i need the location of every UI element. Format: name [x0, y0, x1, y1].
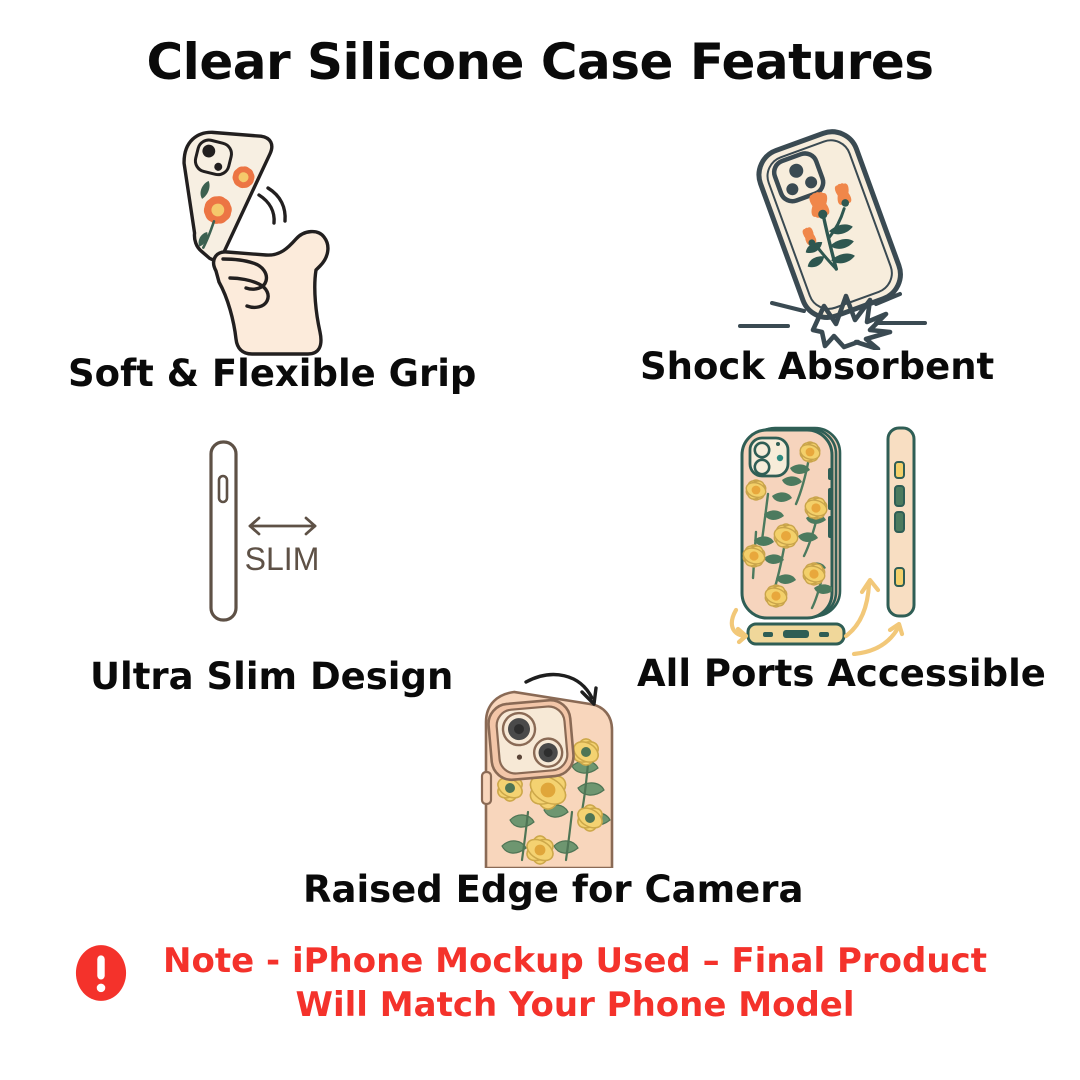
phone-case-body — [752, 124, 908, 324]
mute-switch — [895, 462, 904, 478]
motion-arcs — [259, 188, 285, 223]
speaker-hole-left — [763, 632, 773, 637]
illustration-shock-absorbent — [718, 118, 946, 350]
illustration-ultra-slim-design: SLIM — [180, 428, 362, 632]
case-side-buttons — [828, 468, 833, 538]
feature-label-ultra-slim-design: Ultra Slim Design — [90, 655, 453, 698]
phone-side-profile — [211, 442, 236, 620]
side-button — [482, 772, 491, 804]
camera-lens-top — [755, 443, 769, 457]
feature-label-shock-absorbent: Shock Absorbent — [640, 345, 994, 388]
spark-left — [772, 303, 804, 311]
slim-arrow — [250, 518, 315, 534]
volume-up-button — [895, 486, 904, 506]
slim-annotation-text: SLIM — [245, 541, 320, 577]
infographic-page: Clear Silicone Case Features — [0, 0, 1080, 1080]
volume-down-button — [895, 512, 904, 532]
feature-label-all-ports-accessible: All Ports Accessible — [637, 652, 1046, 695]
raised-camera-bezel — [487, 699, 575, 782]
hand — [214, 232, 328, 354]
charging-port — [783, 630, 809, 638]
page-title: Clear Silicone Case Features — [0, 33, 1080, 91]
bottom-edge-with-ports — [748, 624, 844, 644]
side-button — [219, 476, 227, 502]
arrow-to-side-bottom — [854, 628, 898, 654]
illustration-all-ports-accessible — [706, 418, 942, 656]
speaker-hole-right — [819, 632, 829, 637]
feature-label-soft-flexible-grip: Soft & Flexible Grip — [68, 352, 476, 395]
power-button — [895, 568, 904, 586]
arrow-to-side-top — [846, 584, 869, 636]
camera-lens-bottom — [755, 460, 769, 474]
note-banner: Note - iPhone Mockup Used – Final Produc… — [0, 940, 1080, 1027]
sensor-dot — [777, 455, 783, 461]
note-text: Note - iPhone Mockup Used – Final Produc… — [145, 940, 1005, 1027]
exclamation-circle-icon — [75, 944, 127, 1007]
illustration-raised-edge-for-camera — [448, 660, 656, 868]
camera-module — [750, 438, 788, 476]
phone-side-profile — [888, 428, 914, 616]
illustration-soft-flexible-grip — [120, 118, 388, 358]
flash-dot — [776, 442, 780, 446]
feature-label-raised-edge-for-camera: Raised Edge for Camera — [303, 868, 803, 911]
